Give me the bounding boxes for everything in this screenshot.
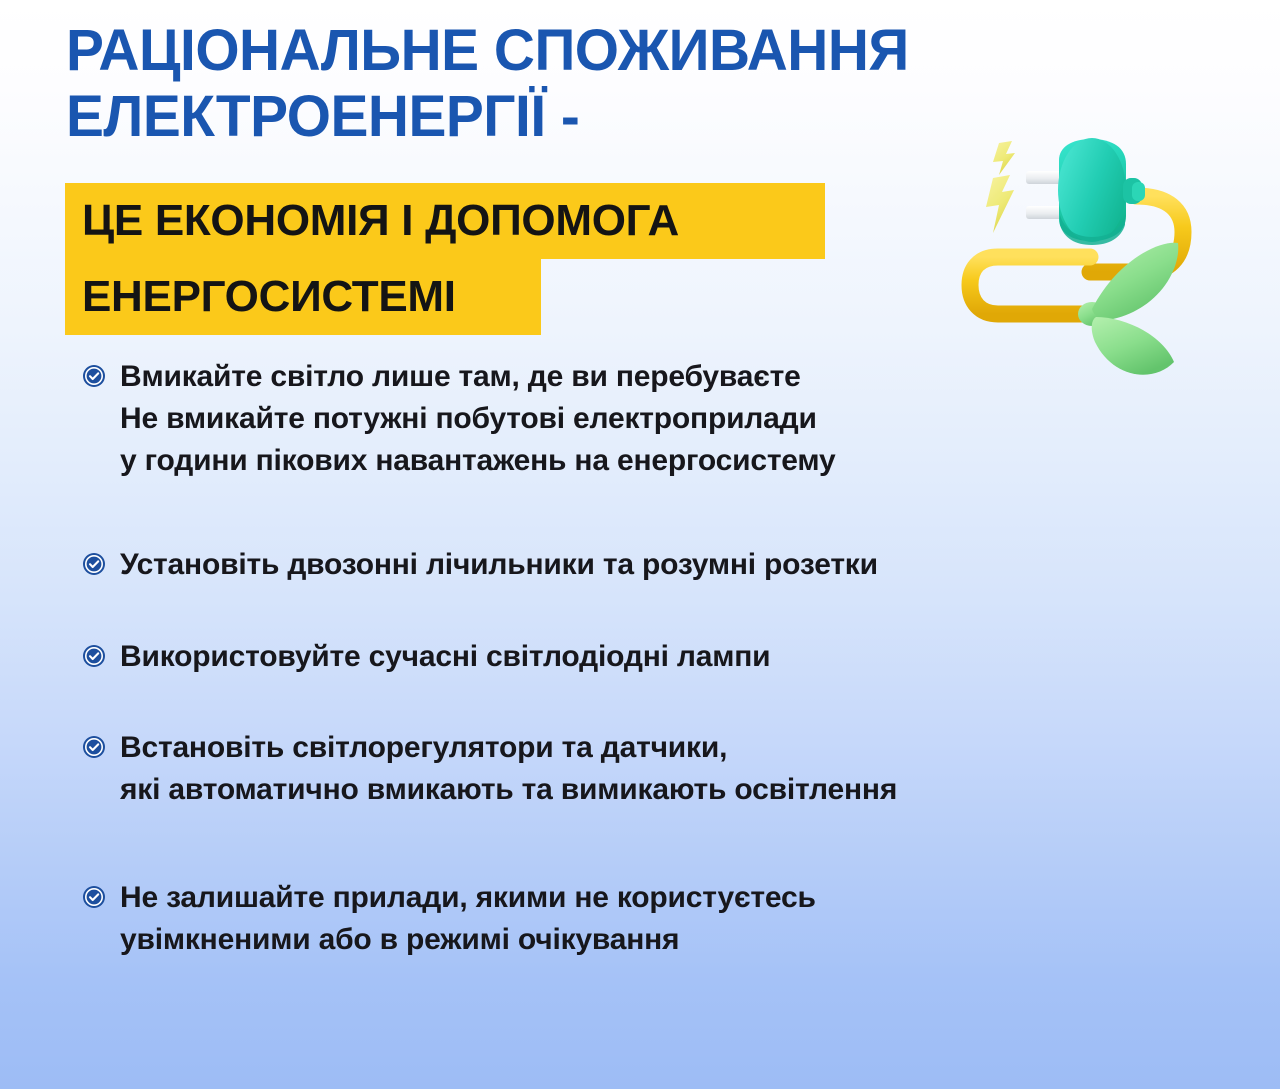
list-item: Не залишайте прилади, якими не користуєт… <box>82 877 1202 961</box>
subtitle-line-2: ЕНЕРГОСИСТЕМІ <box>65 259 541 335</box>
list-item-text: Установіть двозонні лічильники та розумн… <box>120 544 1202 586</box>
infographic-poster: РАЦІОНАЛЬНЕ СПОЖИВАННЯ ЕЛЕКТРОЕНЕРГІЇ - … <box>0 0 1280 1089</box>
plug-prongs-icon <box>1026 171 1062 219</box>
title-line-2: ЕЛЕКТРОЕНЕРГІЇ - <box>66 84 948 150</box>
list-item-line: Встановіть світлорегулятори та датчики, <box>120 731 727 764</box>
list-item: Установіть двозонні лічильники та розумн… <box>82 544 1202 586</box>
list-item: Встановіть світлорегулятори та датчики, … <box>82 727 1202 811</box>
check-circle-icon <box>82 644 106 668</box>
lightning-bolt-icon <box>986 141 1015 233</box>
tips-list: Вмикайте світло лише там, де ви перебува… <box>82 356 1202 961</box>
list-item: Вмикайте світло лише там, де ви перебува… <box>82 356 1202 482</box>
list-item-text: Вмикайте світло лише там, де ви перебува… <box>120 356 1202 482</box>
subtitle-line-1: ЦЕ ЕКОНОМІЯ І ДОПОМОГА <box>65 183 825 259</box>
check-circle-icon <box>82 735 106 759</box>
list-item-line: Не залишайте прилади, якими не користуєт… <box>120 881 816 914</box>
list-item-line: Вмикайте світло лише там, де ви перебува… <box>120 360 801 393</box>
poster-title: РАЦІОНАЛЬНЕ СПОЖИВАННЯ ЕЛЕКТРОЕНЕРГІЇ - <box>66 18 966 150</box>
list-item-text: Не залишайте прилади, якими не користуєт… <box>120 877 1202 961</box>
list-item-line: увімкненими або в режимі очікування <box>120 923 679 956</box>
list-item-line: Установіть двозонні лічильники та розумн… <box>120 548 878 581</box>
leaf-icon <box>1092 243 1179 375</box>
title-line-1: РАЦІОНАЛЬНЕ СПОЖИВАННЯ <box>66 18 948 84</box>
list-item-line: Не вмикайте потужні побутові електроприл… <box>120 402 817 435</box>
check-circle-icon <box>82 552 106 576</box>
list-item-text: Використовуйте сучасні світлодіодні ламп… <box>120 636 1202 678</box>
eco-plug-illustration <box>940 112 1220 392</box>
list-item-text: Встановіть світлорегулятори та датчики, … <box>120 727 1202 811</box>
check-circle-icon <box>82 364 106 388</box>
list-item-line: які автоматично вмикають та вимикають ос… <box>120 773 897 806</box>
poster-subtitle: ЦЕ ЕКОНОМІЯ І ДОПОМОГА ЕНЕРГОСИСТЕМІ <box>65 183 825 335</box>
list-item-line: у години пікових навантажень на енергоси… <box>120 444 835 477</box>
plug-icon <box>1058 138 1145 245</box>
list-item: Використовуйте сучасні світлодіодні ламп… <box>82 636 1202 678</box>
list-item-line: Використовуйте сучасні світлодіодні ламп… <box>120 640 770 673</box>
check-circle-icon <box>82 885 106 909</box>
